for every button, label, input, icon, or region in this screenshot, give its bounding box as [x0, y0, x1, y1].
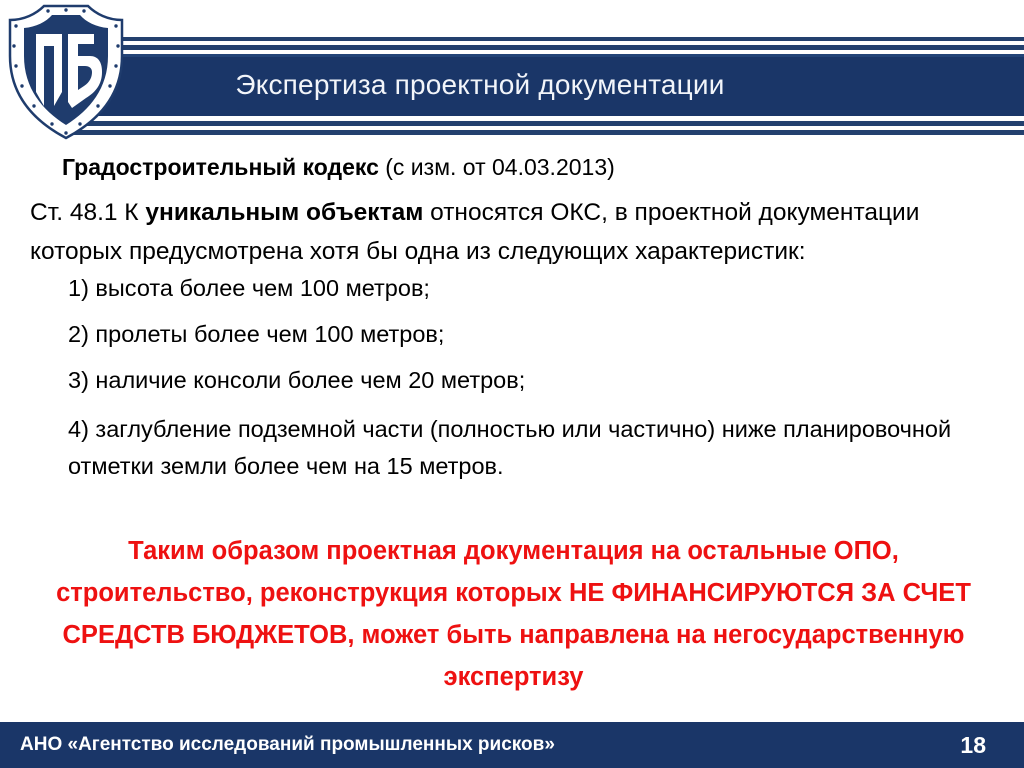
slide-footer: АНО «Агентство исследований промышленных…: [0, 722, 1024, 768]
list-item: 2) пролеты более чем 100 метров;: [68, 319, 968, 350]
header-title-bar: Экспертиза проектной документации: [96, 54, 1024, 116]
conclusion-text: Таким образом проектная документация на …: [46, 530, 981, 698]
slide-header: Экспертиза проектной документации: [0, 0, 1024, 145]
footer-organization: АНО «Агентство исследований промышленных…: [0, 734, 555, 756]
slide: Экспертиза проектной документации: [0, 0, 1024, 768]
header-title-bar-highlight: [96, 54, 1024, 57]
criteria-list: 1) высота более чем 100 метров; 2) проле…: [68, 273, 968, 500]
article-emphasis: уникальным объектам: [145, 199, 423, 226]
article-prefix: Ст. 48.1 К: [30, 199, 145, 226]
header-stripe-bottom-outer: [80, 130, 1024, 135]
list-item: 4) заглубление подземной части (полность…: [68, 411, 968, 485]
header-stripe-top-inner: [102, 45, 1024, 50]
law-reference: Градостроительный кодекс (с изм. от 04.0…: [62, 152, 615, 182]
page-title: Экспертиза проектной документации: [96, 69, 1024, 101]
header-stripe-top-outer: [108, 37, 1024, 41]
slide-body: Градостроительный кодекс (с изм. от 04.0…: [0, 145, 1024, 720]
law-reference-amendment: (с изм. от 04.03.2013): [379, 154, 615, 180]
list-item: 3) наличие консоли более чем 20 метров;: [68, 365, 968, 396]
law-reference-name: Градостроительный кодекс: [62, 154, 379, 180]
shield-logo-icon: [2, 2, 130, 142]
header-stripe-bottom-inner: [88, 121, 1024, 126]
article-paragraph: Ст. 48.1 К уникальным объектам относятся…: [30, 193, 990, 271]
footer-page-number: 18: [960, 732, 1024, 759]
list-item: 1) высота более чем 100 метров;: [68, 273, 968, 304]
